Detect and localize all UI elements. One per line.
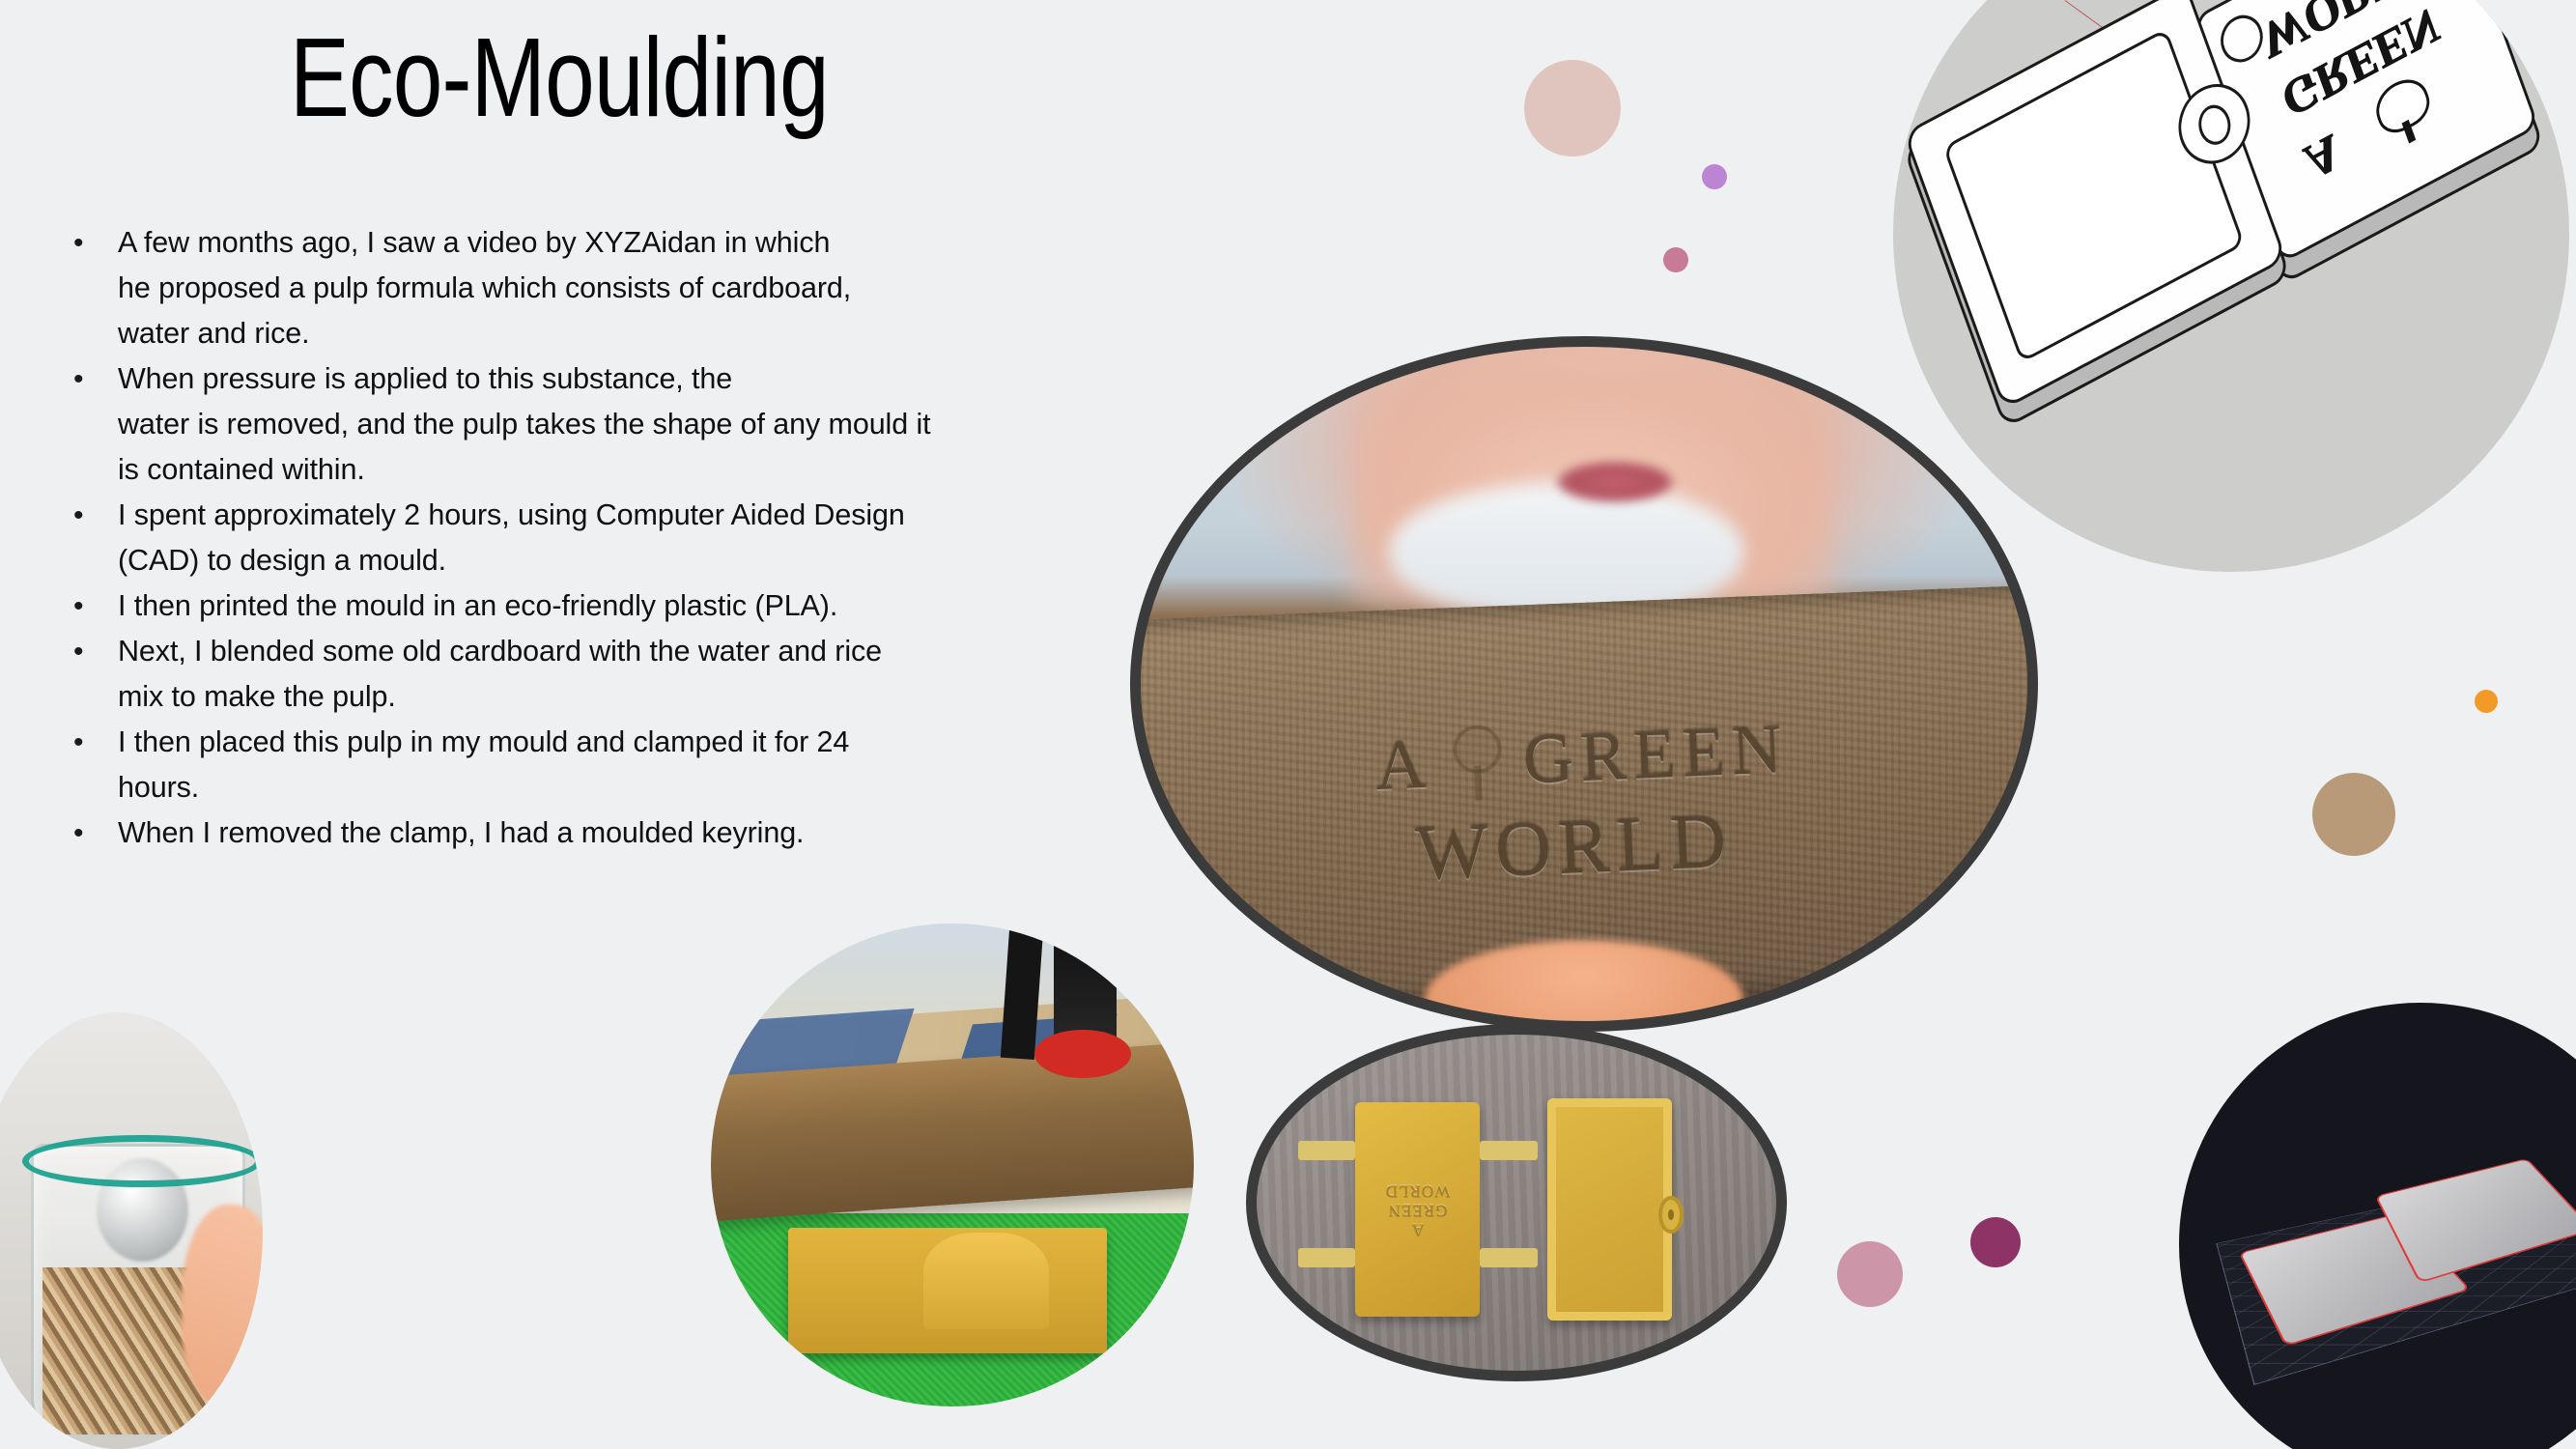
mould-half-cavity: [1547, 1098, 1672, 1321]
alignment-tab: [1298, 1248, 1355, 1267]
bullet-text: I spent approximately 2 hours, using Com…: [118, 493, 1142, 583]
shredded-cardboard-in-jug-photo: [0, 1012, 263, 1449]
bullet-marker: •: [60, 220, 118, 266]
alignment-tab: [1480, 1141, 1537, 1160]
bullet-text: I then placed this pulp in my mould and …: [118, 720, 1142, 810]
circle-rose-small: [1663, 247, 1688, 272]
bullet-text: I then printed the mould in an eco-frien…: [118, 583, 1142, 629]
bullet-text: Next, I blended some old cardboard with …: [118, 629, 1142, 720]
list-item: • I spent approximately 2 hours, using C…: [60, 493, 1142, 583]
bullet-list: • A few months ago, I saw a video by XYZ…: [60, 220, 1142, 856]
jug-green-rim: [22, 1135, 262, 1188]
keyring-lug-hole: [1658, 1196, 1684, 1234]
bullet-marker: •: [60, 583, 118, 629]
list-item: • I then printed the mould in an eco-fri…: [60, 583, 1142, 629]
circle-magenta-dark: [1970, 1217, 2021, 1267]
bullet-marker: •: [60, 720, 118, 765]
engraved-world: WORLD: [1385, 1180, 1450, 1200]
list-item: • Next, I blended some old cardboard wit…: [60, 629, 1142, 720]
engraved-green: GREEN: [1388, 1200, 1448, 1219]
list-item: • I then placed this pulp in my mould an…: [60, 720, 1142, 810]
list-item: • When pressure is applied to this subst…: [60, 356, 1142, 493]
circle-tan-medium: [2312, 773, 2395, 856]
lips-blur: [1557, 462, 1672, 502]
bullet-text: When pressure is applied to this substan…: [118, 356, 1142, 493]
pla-mould-lug: [923, 1233, 1049, 1329]
list-item: • A few months ago, I saw a video by XYZ…: [60, 220, 1142, 356]
bullet-marker: •: [60, 356, 118, 402]
cad-mould-render: WORLD GREEN A: [1893, 0, 2569, 572]
bullet-marker: •: [60, 810, 118, 856]
moulded-pulp-keyring-photo: A GREEN WORLD: [1130, 336, 2038, 1032]
page-title: Eco-Moulding: [290, 21, 829, 133]
clamp-red-knob: [1034, 1030, 1131, 1078]
scarf-blur: [1389, 482, 1743, 617]
bullet-marker: •: [60, 629, 118, 674]
alignment-tab: [1480, 1248, 1537, 1267]
alignment-tab: [1298, 1141, 1355, 1160]
circle-blush-large: [1524, 60, 1621, 156]
engraved-text: A GREEN WORLD: [1355, 1102, 1480, 1318]
bullet-text: When I removed the clamp, I had a moulde…: [118, 810, 1142, 856]
printed-mould-halves-photo: A GREEN WORLD: [1246, 1024, 1787, 1381]
circle-purple-small: [1702, 164, 1727, 189]
circle-pink-medium: [1837, 1241, 1903, 1307]
presentation-slide: Eco-Moulding • A few months ago, I saw a…: [0, 0, 2576, 1449]
bullet-text: A few months ago, I saw a video by XYZAi…: [118, 220, 1142, 356]
bullet-marker: •: [60, 493, 118, 538]
slicer-build-plate-render: [2179, 1003, 2576, 1449]
clamped-mould-photo: [711, 923, 1194, 1406]
mould-half-engraved: A GREEN WORLD: [1355, 1102, 1480, 1318]
circle-orange-dot: [2475, 690, 2498, 713]
engraved-a: A: [1411, 1219, 1424, 1238]
hand-blur: [182, 1205, 263, 1406]
list-item: • When I removed the clamp, I had a moul…: [60, 810, 1142, 856]
